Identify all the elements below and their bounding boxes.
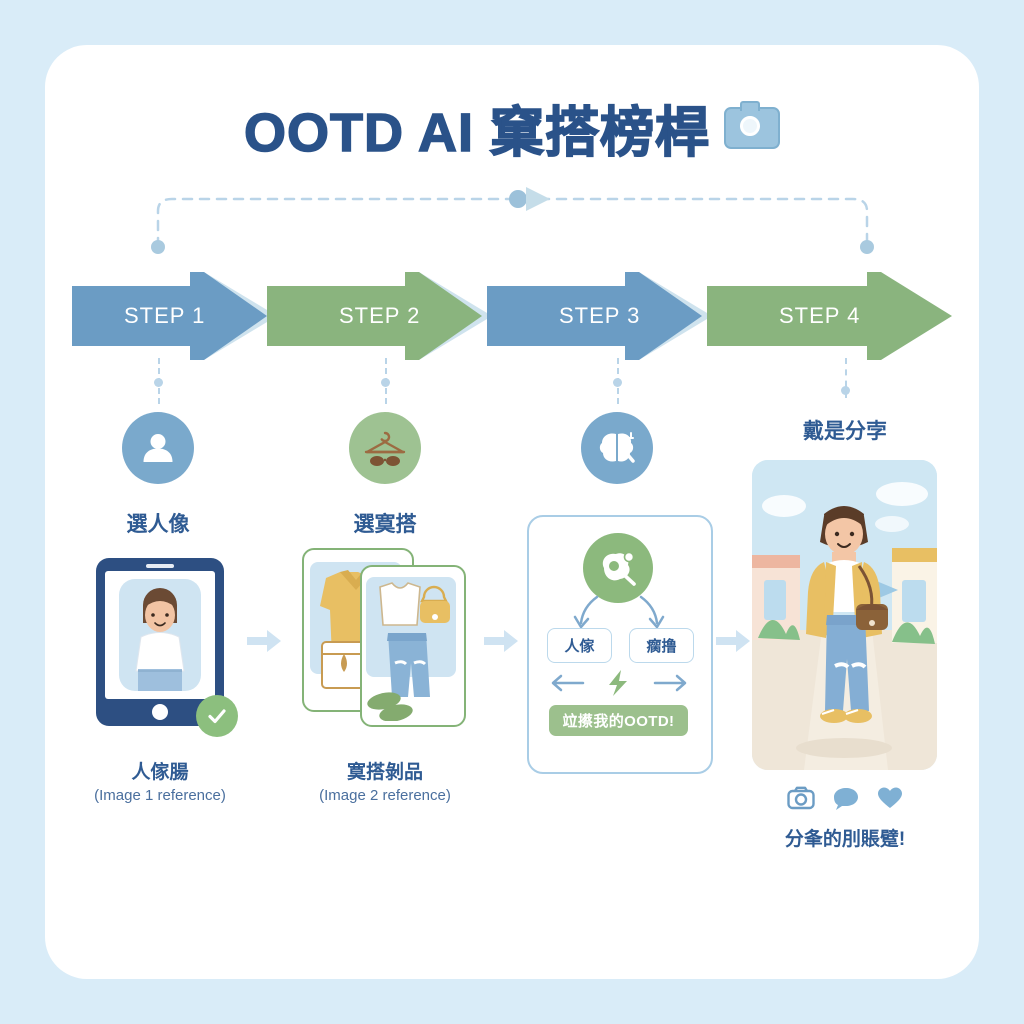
step-arrow-1-label: STEP 1 [124,303,205,329]
step-arrow-4[interactable]: STEP 4 [707,272,952,360]
generate-ootd-button[interactable]: 竝攃我的OOTD! [549,705,688,736]
step-heading-2: 選寞搭 [315,508,455,538]
step-arrow-strip: STEP 1 STEP 2 STEP 3 STEP 4 [72,272,952,360]
caption-step1-cn: 人傢腸 [30,760,290,786]
title-block: OOTD AI 窠搭榜桿 [0,88,1024,167]
result-image[interactable] [752,460,937,770]
stem-dot-3 [613,378,622,387]
ai-chip-person[interactable]: 人傢 [547,628,612,663]
caption-step2-en: (Image 2 reference) [255,786,515,806]
connector-arrow-3 [716,628,750,654]
hanger-sunglasses-icon [349,412,421,484]
stem-dot-1 [154,378,163,387]
person-icon [122,412,194,484]
heart-icon[interactable] [877,786,903,815]
share-caption: 分夆的刖賬躄! [700,824,990,851]
stem-dot-4 [841,386,850,395]
camera-icon [724,107,780,149]
step-heading-1: 選人像 [88,508,228,538]
infographic-canvas: OOTD AI 窠搭榜桿 STEP 1 STEP 2 [0,0,1024,1024]
brain-gears-icon [583,533,653,603]
step-arrow-4-label: STEP 4 [779,303,860,329]
check-icon [196,695,238,737]
loop-connector [140,185,885,260]
page-title: OOTD AI 窠搭榜桿 [244,88,710,167]
connector-arrow-1 [247,628,281,654]
device-home-button[interactable] [152,704,168,720]
brain-wand-icon [581,412,653,484]
device-speaker [146,564,174,568]
camera-icon[interactable] [787,786,815,815]
ai-down-arrows [545,595,693,631]
comment-icon[interactable] [833,786,859,815]
connector-arrow-2 [484,628,518,654]
caption-step2: 寞搭剝品 (Image 2 reference) [255,760,515,806]
caption-step1-en: (Image 1 reference) [30,786,290,806]
social-actions [752,783,937,817]
ai-merge-row [545,668,693,698]
step-arrow-2-label: STEP 2 [339,303,420,329]
outfit-card-front[interactable] [360,565,466,727]
step-arrow-3-label: STEP 3 [559,303,640,329]
caption-step1: 人傢腸 (Image 1 reference) [30,760,290,806]
device-screen [105,571,215,699]
ai-chip-outfit[interactable]: 瘸撸 [629,628,694,663]
step-heading-4: 戴是分孛 [775,415,915,445]
stem-dot-2 [381,378,390,387]
caption-step2-cn: 寞搭剝品 [255,760,515,786]
